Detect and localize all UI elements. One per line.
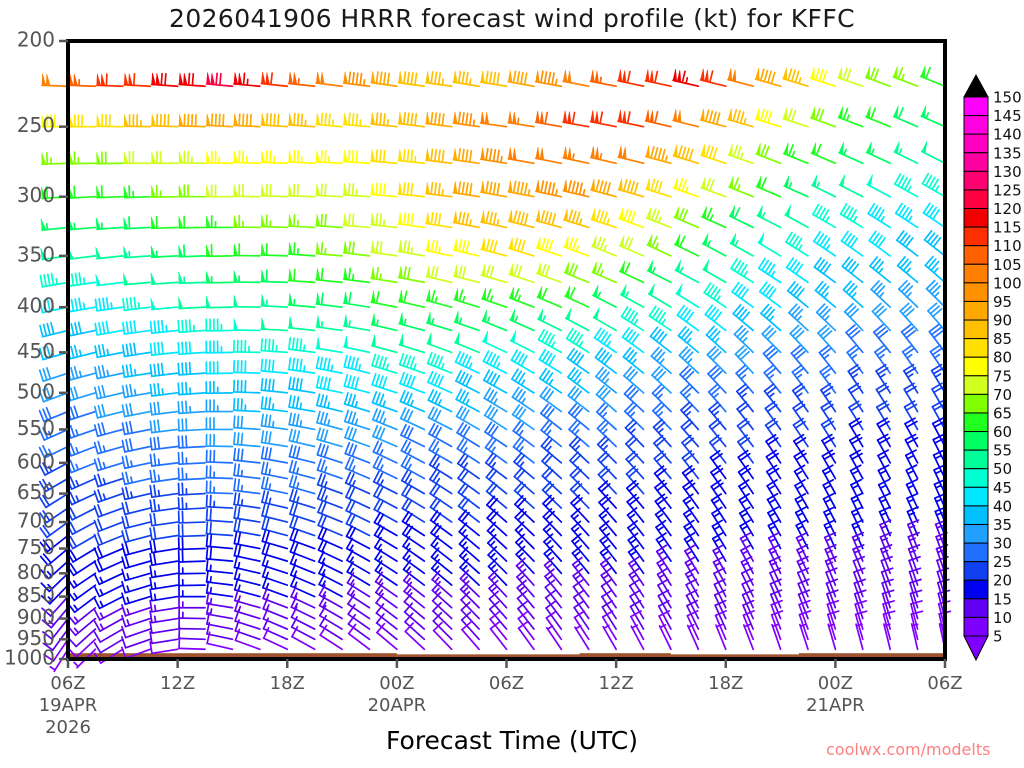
barb-half-5	[771, 272, 774, 277]
barb-half-5	[466, 400, 469, 405]
wind-barb	[428, 372, 452, 393]
barb-half-5	[687, 551, 692, 554]
colorbar-swatch	[964, 599, 988, 618]
barb-full-10	[871, 108, 875, 119]
barb-full-10	[269, 360, 270, 371]
barb-flag-50	[591, 70, 595, 82]
barb-flag-50	[344, 268, 348, 280]
barb-full-10	[318, 515, 322, 526]
barb-flag-50	[261, 270, 265, 282]
barb-full-10	[182, 483, 183, 494]
wind-barb	[482, 288, 507, 307]
barb-half-5	[298, 79, 299, 85]
colorbar-swatch	[964, 134, 988, 153]
barb-full-10	[328, 379, 330, 390]
y-tick-label: 1000	[4, 646, 55, 670]
wind-barb	[509, 210, 534, 227]
wind-barb	[122, 637, 150, 648]
barb-flag-50	[151, 273, 156, 284]
colorbar-tick-label: 130	[993, 163, 1022, 181]
barb-half-5	[74, 662, 78, 666]
barb-full-10	[459, 149, 461, 160]
barb-half-5	[826, 217, 829, 222]
wind-barb	[788, 282, 808, 307]
barb-full-10	[349, 184, 350, 195]
barb-shaft	[152, 649, 178, 653]
wind-barb	[178, 483, 205, 495]
barb-full-10	[294, 504, 298, 515]
barb-full-10	[94, 521, 98, 532]
barb-half-5	[769, 393, 774, 397]
wind-barb	[399, 290, 424, 307]
barb-full-10	[262, 505, 265, 516]
wind-barb	[403, 549, 424, 574]
barb-full-10	[122, 616, 126, 627]
barb-full-10	[262, 462, 264, 473]
barb-half-5	[908, 456, 913, 459]
barb-flag-50	[234, 151, 238, 163]
barb-full-10	[349, 113, 350, 124]
barb-half-5	[491, 542, 495, 546]
barb-full-10	[772, 73, 775, 84]
barb-full-10	[238, 464, 239, 475]
barb-half-5	[74, 581, 77, 586]
wind-barb	[703, 259, 726, 282]
wind-barb	[67, 406, 95, 419]
barb-full-10	[624, 180, 627, 191]
wind-barb	[261, 72, 287, 86]
wind-barb	[398, 112, 424, 127]
barb-full-10	[99, 345, 101, 356]
wind-barb	[570, 452, 589, 478]
wind-barb	[206, 114, 232, 127]
barb-full-10	[548, 73, 550, 84]
barb-shaft	[53, 639, 68, 661]
barb-flag-50	[703, 259, 709, 271]
barb-full-10	[552, 183, 554, 194]
barb-full-10	[71, 388, 74, 399]
barb-full-10	[107, 298, 109, 309]
wind-barb	[538, 309, 561, 331]
barb-full-10	[178, 383, 179, 394]
wind-barb	[206, 296, 232, 307]
barb-full-10	[71, 444, 75, 455]
barb-full-10	[435, 183, 436, 194]
barb-full-10	[404, 392, 408, 403]
barb-flag-50	[509, 210, 513, 222]
barb-half-5	[770, 539, 775, 542]
barb-full-10	[94, 506, 98, 517]
barb-half-5	[76, 430, 78, 435]
barb-full-10	[466, 242, 469, 253]
barb-full-10	[658, 568, 668, 574]
barb-full-10	[51, 323, 54, 334]
barb-full-10	[819, 110, 823, 121]
wind-barb	[150, 384, 177, 396]
barb-flag-50	[344, 113, 348, 125]
barb-full-10	[679, 146, 682, 157]
barb-full-10	[411, 377, 415, 388]
barb-full-10	[525, 73, 527, 84]
wind-barb	[150, 470, 177, 482]
barb-flag-50	[455, 311, 459, 323]
barb-full-10	[318, 474, 322, 485]
barb-half-5	[652, 268, 655, 273]
barb-full-10	[154, 553, 156, 564]
wind-barb	[654, 419, 671, 446]
barb-flag-50	[866, 67, 870, 79]
barb-half-5	[462, 542, 466, 546]
barb-shaft	[545, 587, 561, 607]
wind-barb	[704, 283, 726, 307]
barb-full-10	[466, 113, 468, 124]
barb-full-10	[380, 412, 384, 423]
barb-full-10	[269, 379, 270, 390]
wind-barb	[869, 231, 890, 256]
wind-barb	[261, 243, 287, 255]
wind-barb	[96, 218, 123, 229]
wind-barb	[263, 598, 287, 618]
barb-half-5	[575, 430, 579, 434]
barb-full-10	[238, 399, 239, 410]
barb-full-10	[376, 427, 380, 438]
barb-full-10	[655, 112, 658, 123]
barb-full-10	[126, 472, 129, 483]
barb-full-10	[442, 114, 443, 125]
barb-half-5	[546, 528, 550, 532]
barb-full-10	[186, 342, 187, 353]
barb-full-10	[384, 114, 385, 125]
barb-half-5	[631, 552, 636, 555]
x-tick-label-time: 12Z	[599, 673, 634, 694]
barb-half-5	[880, 456, 885, 459]
barb-full-10	[190, 320, 191, 331]
wind-barb	[262, 477, 287, 494]
wind-barb	[426, 149, 452, 164]
barb-half-5	[438, 400, 441, 405]
barb-full-10	[706, 179, 710, 190]
barb-full-10	[514, 265, 518, 276]
barb-half-5	[575, 564, 580, 568]
wind-barb	[67, 367, 95, 380]
barb-full-10	[459, 182, 461, 193]
barb-full-10	[289, 377, 291, 388]
barb-half-5	[844, 150, 846, 155]
barb-full-10	[710, 180, 714, 191]
barb-full-10	[816, 109, 820, 120]
wind-barb	[179, 525, 205, 537]
wind-barb	[347, 573, 369, 597]
barb-full-10	[435, 356, 439, 367]
wind-barb	[814, 232, 836, 256]
wind-barb	[811, 143, 835, 164]
barb-full-10	[102, 386, 105, 397]
wind-barb	[431, 548, 451, 573]
barb-flag-50	[701, 177, 705, 189]
barb-full-10	[234, 416, 235, 427]
barb-full-10	[435, 150, 436, 161]
barb-half-5	[460, 318, 462, 323]
barb-half-5	[131, 461, 132, 467]
wind-barb	[591, 208, 616, 227]
barb-full-10	[400, 354, 404, 365]
wind-barb	[263, 588, 287, 608]
barb-flag-50	[593, 285, 598, 297]
barb-half-5	[492, 587, 496, 591]
wind-barb	[372, 313, 397, 330]
barb-full-10	[376, 375, 380, 386]
barb-full-10	[126, 556, 129, 567]
barb-full-10	[95, 425, 98, 436]
barb-flag-50	[620, 261, 625, 273]
barb-full-10	[545, 72, 547, 83]
wind-barb	[922, 141, 945, 163]
barb-full-10	[459, 240, 462, 251]
barb-half-5	[155, 616, 156, 622]
barb-full-10	[261, 379, 262, 390]
barb-full-10	[269, 432, 271, 443]
barb-half-5	[166, 326, 167, 332]
barb-full-10	[278, 115, 279, 126]
barb-half-5	[715, 563, 720, 566]
barb-full-10	[380, 429, 384, 440]
barb-half-5	[127, 586, 129, 591]
barb-full-10	[130, 298, 131, 309]
barb-full-10	[348, 357, 351, 368]
barb-half-5	[936, 499, 941, 501]
wind-barb	[734, 326, 753, 352]
wind-barb	[67, 522, 95, 534]
barb-full-10	[549, 213, 552, 224]
barb-full-10	[518, 240, 521, 251]
barb-flag-50	[481, 71, 485, 83]
wind-barb	[508, 111, 534, 126]
barb-flag-50	[97, 152, 101, 163]
wind-barb	[235, 630, 259, 650]
wind-barb	[511, 330, 534, 352]
barb-full-10	[546, 601, 555, 608]
barb-full-10	[629, 569, 639, 575]
barb-half-5	[797, 500, 802, 503]
barb-full-10	[518, 266, 522, 277]
wind-barb	[67, 426, 95, 438]
barb-full-10	[265, 339, 266, 350]
wind-barb	[570, 467, 588, 494]
barb-full-10	[486, 239, 489, 250]
barb-flag-50	[206, 114, 210, 126]
wind-barb	[95, 405, 123, 418]
x-tick-label-time: 06Z	[927, 673, 962, 694]
barb-flag-50	[179, 114, 183, 126]
wind-barb	[122, 530, 150, 542]
wind-barb	[347, 550, 370, 573]
barb-flag-50	[568, 148, 572, 160]
barb-full-10	[126, 456, 128, 467]
wind-barb	[676, 284, 698, 308]
barb-half-5	[935, 293, 939, 297]
wind-barb	[234, 479, 260, 494]
barb-flag-50	[728, 68, 732, 80]
barb-full-10	[602, 590, 612, 596]
barb-full-10	[293, 476, 296, 487]
barb-full-10	[349, 268, 350, 279]
barb-full-10	[432, 291, 435, 302]
barb-half-5	[737, 185, 739, 190]
barb-full-10	[99, 299, 101, 310]
barb-full-10	[98, 442, 101, 453]
watermark-link[interactable]: coolwx.com/modelts	[826, 740, 990, 759]
barb-full-10	[843, 109, 847, 120]
x-tick-label-date: 19APR	[39, 695, 98, 716]
barb-full-10	[874, 70, 878, 81]
barb-flag-50	[677, 110, 681, 122]
barb-full-10	[459, 266, 462, 277]
barb-flag-50	[513, 112, 517, 124]
wind-barb	[453, 71, 479, 86]
barb-half-5	[714, 394, 718, 398]
barb-half-5	[825, 316, 829, 320]
barb-half-5	[414, 364, 416, 369]
barb-full-10	[574, 601, 584, 607]
barb-full-10	[789, 145, 793, 156]
wind-barb	[124, 217, 151, 229]
wind-barb	[289, 113, 315, 126]
barb-full-10	[680, 236, 685, 246]
barb-half-5	[273, 422, 274, 428]
barb-full-10	[926, 68, 930, 79]
barb-half-5	[741, 486, 746, 489]
barb-flag-50	[509, 263, 513, 275]
wind-barb	[95, 639, 123, 652]
barb-flag-50	[646, 70, 650, 82]
barb-flag-50	[211, 73, 215, 85]
barb-full-10	[352, 445, 356, 456]
barb-half-5	[442, 364, 444, 369]
barb-half-5	[380, 450, 382, 455]
barb-flag-50	[839, 142, 844, 154]
barb-full-10	[290, 489, 293, 500]
barb-half-5	[100, 613, 103, 618]
barb-full-10	[154, 528, 156, 539]
barb-half-5	[829, 624, 835, 626]
barb-shaft	[546, 608, 561, 629]
barb-full-10	[463, 267, 466, 278]
barb-half-5	[742, 526, 747, 529]
barb-full-10	[525, 184, 527, 195]
x-tick-label-time: 18Z	[708, 673, 743, 694]
wind-barb	[619, 178, 644, 196]
wind-barb	[399, 240, 425, 256]
barb-flag-50	[289, 293, 293, 305]
barb-full-10	[431, 354, 435, 365]
barb-full-10	[435, 213, 437, 224]
barb-flag-50	[427, 312, 431, 324]
wind-barb	[178, 363, 205, 375]
barb-half-5	[111, 303, 112, 309]
wind-barb	[95, 629, 123, 642]
barb-flag-50	[398, 149, 402, 161]
barb-half-5	[273, 404, 274, 410]
barb-full-10	[573, 265, 577, 276]
wind-barb	[261, 359, 287, 373]
barb-full-10	[98, 519, 102, 530]
barb-half-5	[442, 190, 443, 196]
wind-barb	[811, 107, 835, 127]
barb-flag-50	[623, 147, 627, 159]
wind-barb	[399, 71, 425, 86]
barb-full-10	[713, 112, 716, 123]
wind-barb	[122, 439, 150, 452]
wind-barb	[206, 185, 232, 197]
barb-half-5	[602, 540, 607, 544]
wind-barb	[453, 148, 479, 163]
barb-flag-50	[151, 217, 155, 228]
wind-barb	[95, 298, 122, 311]
barb-flag-50	[316, 113, 320, 125]
barb-flag-50	[510, 309, 515, 321]
barb-full-10	[651, 147, 654, 158]
barb-half-5	[355, 419, 357, 424]
barb-flag-50	[289, 184, 293, 196]
barb-full-10	[410, 357, 414, 368]
barb-flag-50	[676, 284, 682, 296]
wind-barb	[97, 152, 123, 164]
barb-flag-50	[453, 181, 457, 193]
barb-flag-50	[178, 297, 182, 308]
wind-barb	[430, 484, 452, 508]
colorbar-swatch	[964, 413, 988, 432]
barb-full-10	[490, 72, 492, 83]
barb-full-10	[94, 491, 98, 502]
barb-flag-50	[426, 182, 430, 194]
barb-full-10	[182, 468, 183, 479]
barb-flag-50	[481, 112, 485, 124]
barb-full-10	[349, 150, 350, 161]
barb-full-10	[490, 240, 493, 251]
wind-barb	[67, 387, 95, 400]
barb-full-10	[317, 412, 320, 423]
barb-half-5	[879, 355, 884, 358]
barb-full-10	[123, 366, 125, 377]
wind-barb	[454, 211, 480, 227]
barb-half-5	[631, 563, 636, 566]
barb-half-5	[491, 554, 495, 558]
barb-half-5	[936, 471, 941, 473]
wind-barb	[841, 232, 862, 256]
wind-barb	[178, 436, 205, 448]
wind-barb	[591, 110, 617, 126]
barb-half-5	[242, 500, 243, 506]
barb-flag-50	[812, 175, 817, 187]
barb-full-10	[600, 181, 603, 192]
wind-barb	[626, 436, 644, 463]
barb-flag-50	[921, 106, 926, 118]
barb-full-10	[47, 368, 51, 379]
wind-barb	[234, 507, 260, 522]
barb-half-5	[439, 248, 440, 254]
y-tick-label: 450	[17, 339, 55, 363]
barb-full-10	[158, 384, 159, 395]
barb-full-10	[372, 355, 375, 366]
barb-half-5	[762, 213, 765, 218]
barb-full-10	[597, 264, 601, 275]
barb-half-5	[355, 402, 357, 407]
wind-barb	[566, 308, 589, 330]
barb-half-5	[377, 320, 378, 326]
barb-full-10	[353, 73, 354, 84]
barb-flag-50	[756, 108, 760, 120]
barb-full-10	[162, 364, 163, 375]
